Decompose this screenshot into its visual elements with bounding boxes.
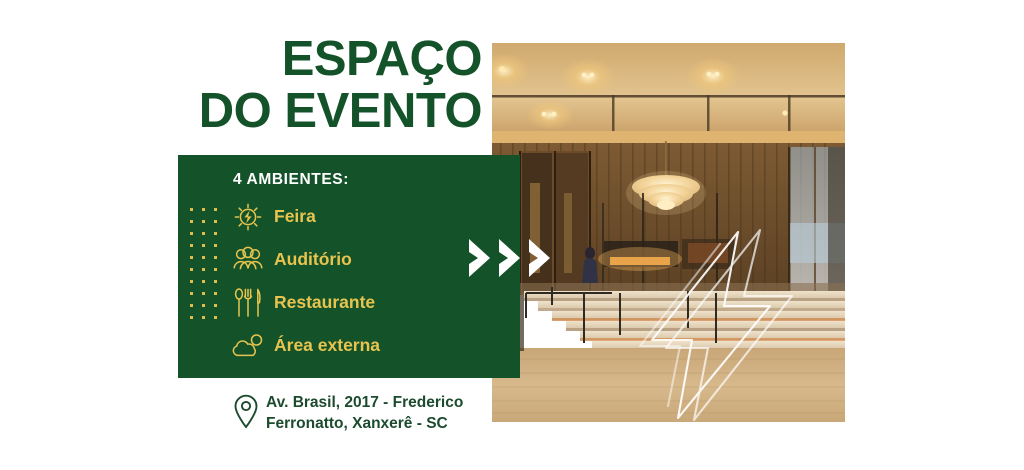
venue-photo [492, 43, 845, 422]
chevron-arrows-group [466, 236, 562, 280]
list-item-label: Feira [274, 206, 316, 227]
sun-bolt-icon [228, 200, 268, 234]
chevron-right-icon [496, 237, 524, 279]
address-line-2: Ferronatto, Xanxerê - SC [266, 413, 463, 434]
list-item-label: Área externa [274, 335, 380, 356]
dot-grid-decoration [185, 203, 221, 323]
list-item-label: Restaurante [274, 292, 375, 313]
venue-photo-image [492, 43, 845, 422]
location-pin-icon [232, 393, 260, 429]
cutlery-icon [228, 286, 268, 320]
page-title: ESPAÇO DO EVENTO [120, 34, 482, 138]
list-item[interactable]: Área externa [228, 324, 508, 367]
ambientes-list: Feira Auditório [228, 195, 508, 367]
panel-heading: 4 AMBIENTES: [233, 171, 349, 189]
chevron-right-icon [466, 237, 494, 279]
title-line-2: DO EVENTO [120, 86, 482, 138]
title-line-1: ESPAÇO [120, 34, 482, 86]
poster-canvas: ESPAÇO DO EVENTO 4 AMBIENTES: [0, 0, 1024, 470]
address-block: Av. Brasil, 2017 - Frederico Ferronatto,… [232, 392, 512, 435]
list-item[interactable]: Feira [228, 195, 508, 238]
list-item[interactable]: Restaurante [228, 281, 508, 324]
cloud-sun-icon [228, 329, 268, 363]
chevron-right-icon [526, 237, 554, 279]
address-line-1: Av. Brasil, 2017 - Frederico [266, 392, 463, 413]
list-item-label: Auditório [274, 249, 352, 270]
address-text: Av. Brasil, 2017 - Frederico Ferronatto,… [266, 392, 463, 435]
people-group-icon [228, 243, 268, 277]
